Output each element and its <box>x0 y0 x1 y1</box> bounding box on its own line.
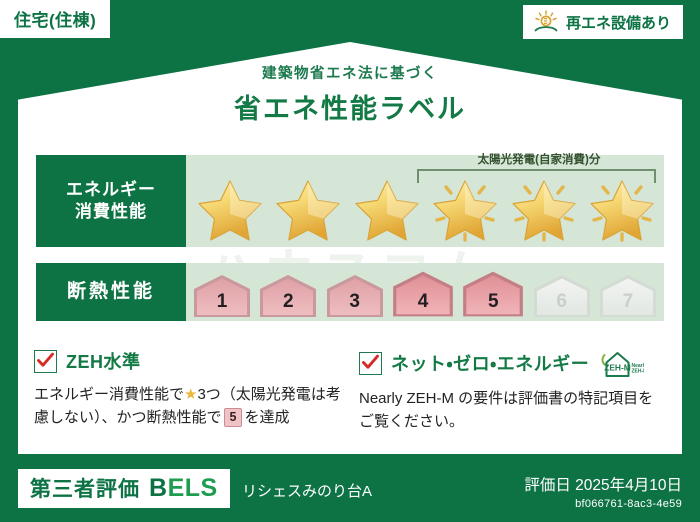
check-icon <box>359 352 382 375</box>
grade-badge: 3 <box>325 273 385 319</box>
energy-performance-row: エネルギー 消費性能 太陽光発電(自家消費)分 <box>36 155 664 247</box>
title-block: 建築物省エネ法に基づく 省エネ性能ラベル <box>0 62 700 126</box>
star-base <box>351 174 423 244</box>
star-solar <box>508 174 580 244</box>
grade-value: 1 <box>192 291 252 313</box>
zeh-standard-title: ZEH水準 <box>66 348 141 374</box>
grade-value: 5 <box>461 291 525 313</box>
svg-text:ZEH-M: ZEH-M <box>632 369 645 375</box>
bels-els: ELS <box>168 474 218 502</box>
star-base <box>194 174 266 244</box>
sun-icon <box>533 10 559 34</box>
zeh-standard-header: ZEH水準 <box>34 348 341 374</box>
energy-label-line1: エネルギー <box>66 179 156 201</box>
zeh-criteria-area: ZEH水準 エネルギー消費性能で★3つ（太陽光発電は考慮しない）、かつ断熱性能で… <box>34 348 666 434</box>
renewable-equipment-badge: 再エネ設備あり <box>523 5 683 39</box>
net-zero-title: ネット・ゼロ・エネルギー <box>391 350 589 376</box>
check-icon <box>34 350 57 373</box>
page-title: 省エネ性能ラベル <box>0 87 700 126</box>
title-subtitle: 建築物省エネ法に基づく <box>0 62 700 83</box>
net-zero-energy-panel: ネット・ゼロ・エネルギー ZEH-M Nearly ZEH-M Nearly Z… <box>359 348 666 434</box>
bels-logo: BELS <box>149 474 218 503</box>
star-solar <box>586 174 658 244</box>
grade-badge: 4 <box>391 269 455 319</box>
grade-value: 4 <box>391 291 455 313</box>
evaluation-info: 評価日 2025年4月10日 bf066761-8ac3-4e59 <box>524 473 682 510</box>
zeh-text-a: エネルギー消費性能で <box>34 386 184 403</box>
star-rating <box>194 173 658 245</box>
grade-value: 2 <box>258 291 318 313</box>
star-solar <box>429 174 501 244</box>
house-type-tag: 住宅(住棟) <box>0 0 110 38</box>
svg-text:ZEH-M: ZEH-M <box>604 363 631 373</box>
mini-star-icon: ★ <box>184 386 197 403</box>
grade-badge: 2 <box>258 273 318 319</box>
energy-performance-label: エネルギー 消費性能 <box>36 155 186 247</box>
grade-badge: 5 <box>461 269 525 319</box>
evaluation-date: 評価日 2025年4月10日 <box>524 473 682 495</box>
solar-caption: 太陽光発電(自家消費)分 <box>414 151 664 167</box>
net-zero-description: Nearly ZEH-M の要件は評価書の特記項目をご覧ください。 <box>359 387 666 434</box>
zeh-m-logo-icon: ZEH-M Nearly ZEH-M <box>600 348 644 378</box>
insulation-performance-label: 断熱性能 <box>36 263 186 321</box>
grade-badge: 1 <box>192 273 252 319</box>
renewable-badge-label: 再エネ設備あり <box>566 12 671 33</box>
evaluation-id: bf066761-8ac3-4e59 <box>524 498 682 510</box>
zeh-text-b: 3つ（太陽光発電 <box>197 386 310 403</box>
grade-scale: 1 2 3 4 5 <box>192 267 658 319</box>
grade-badge: 6 <box>532 273 592 319</box>
net-zero-header: ネット・ゼロ・エネルギー ZEH-M Nearly ZEH-M <box>359 348 666 378</box>
zeh-standard-description: エネルギー消費性能で★3つ（太陽光発電は考慮しない）、かつ断熱性能で5を達成 <box>34 383 341 430</box>
mini-grade-badge: 5 <box>224 408 243 427</box>
zeh-standard-panel: ZEH水準 エネルギー消費性能で★3つ（太陽光発電は考慮しない）、かつ断熱性能で… <box>34 348 341 434</box>
grade-badge: 7 <box>598 273 658 319</box>
footer: 第三者評価 BELS リシェスみのり台A 評価日 2025年4月10日 bf06… <box>0 456 700 522</box>
insulation-rating-body: 1 2 3 4 5 <box>186 263 664 321</box>
grade-value: 7 <box>598 291 658 313</box>
insulation-performance-row: 断熱性能 1 2 3 <box>36 263 664 321</box>
bels-b: B <box>149 474 168 502</box>
building-name: リシェスみのり台A <box>242 480 372 501</box>
energy-label-root: ハウスコム 住宅(住棟) 再エネ設備あり 建築物省エネ法に基づく 省エネ性能ラベ… <box>0 0 700 522</box>
star-base <box>272 174 344 244</box>
energy-rating-body: 太陽光発電(自家消費)分 <box>186 155 664 247</box>
third-party-label: 第三者評価 <box>30 473 140 503</box>
bels-badge: 第三者評価 BELS <box>18 469 230 508</box>
energy-label-line2: 消費性能 <box>75 201 147 223</box>
zeh-text-d: を達成 <box>244 409 289 426</box>
grade-value: 6 <box>532 291 592 313</box>
grade-value: 3 <box>325 291 385 313</box>
